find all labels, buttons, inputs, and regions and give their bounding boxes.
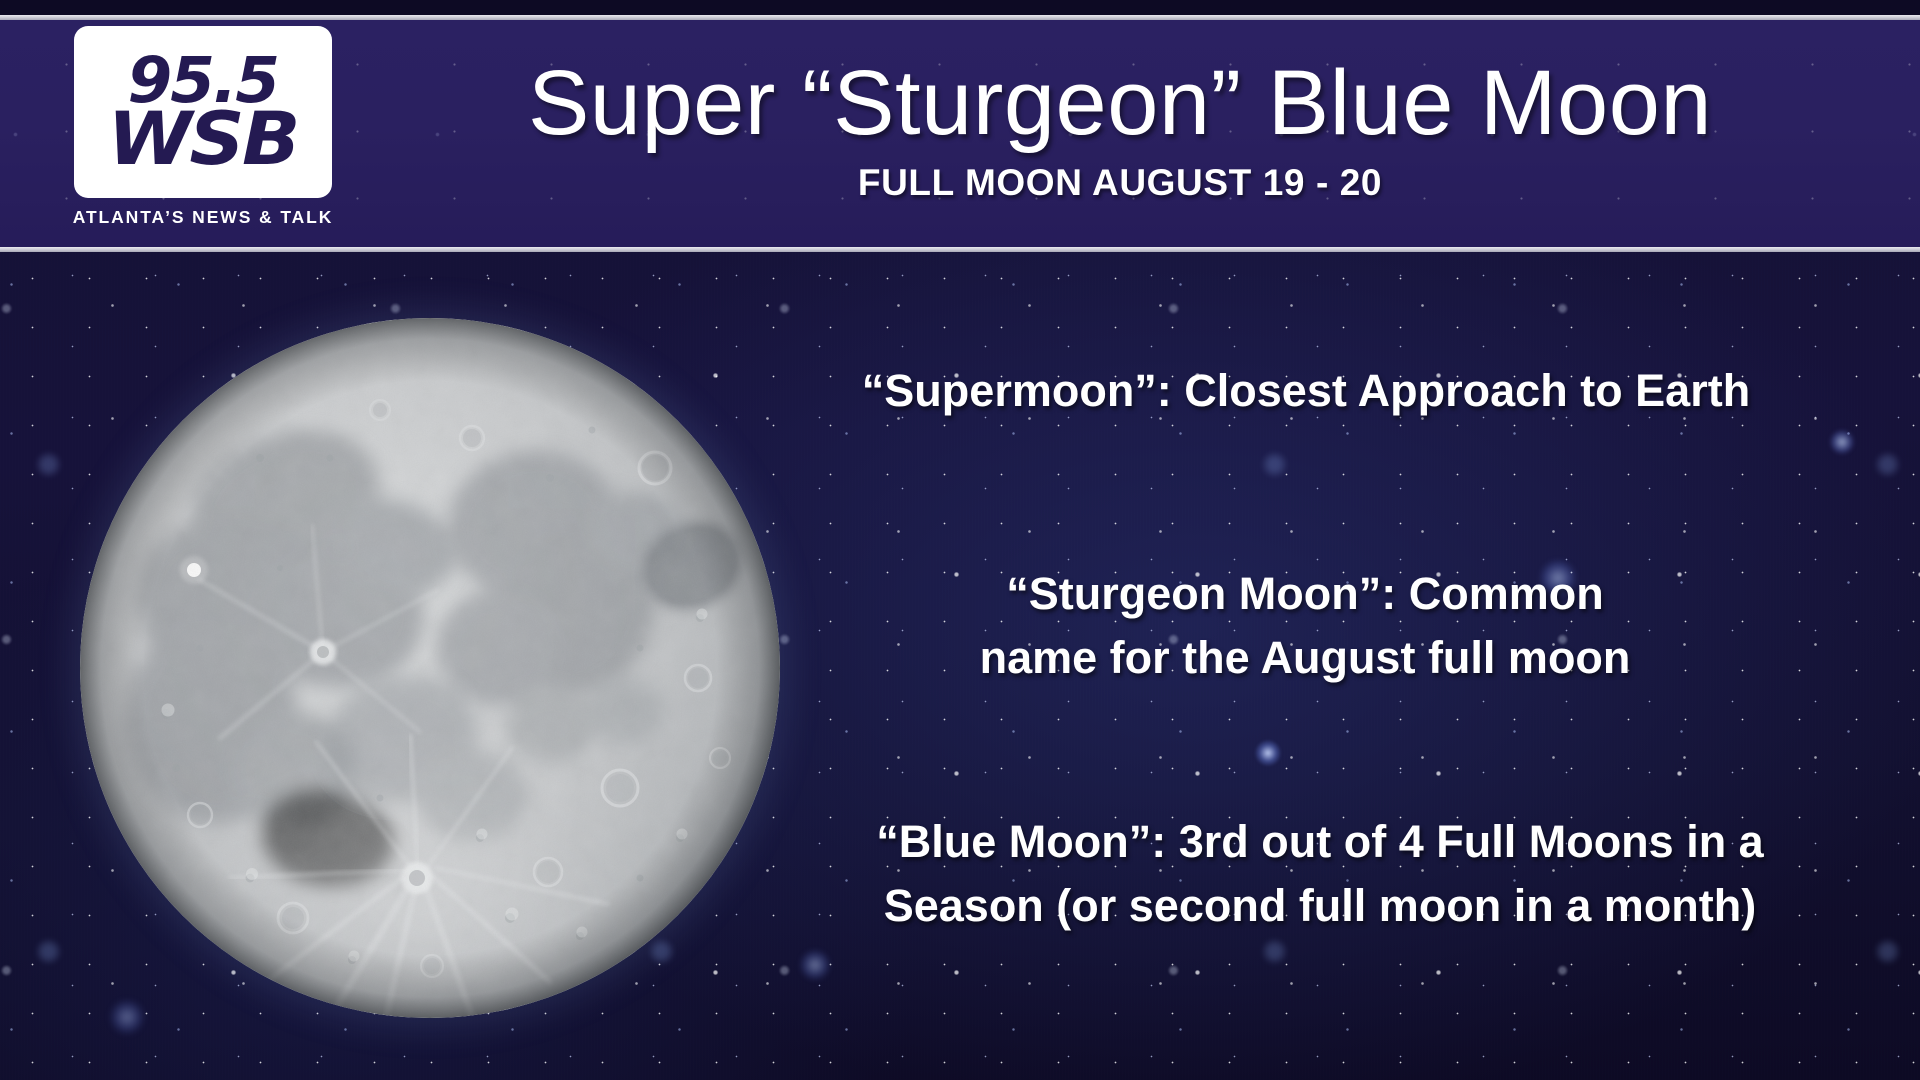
page-title: Super “Sturgeon” Blue Moon bbox=[528, 57, 1712, 151]
graphic-stage: 95.5 WSB ATLANTA’S NEWS & TALK Super “St… bbox=[0, 0, 1920, 1080]
page-subtitle: FULL MOON AUGUST 19 - 20 bbox=[858, 163, 1382, 204]
station-logo[interactable]: 95.5 WSB ATLANTA’S NEWS & TALK bbox=[74, 26, 332, 242]
header-rule-bottom bbox=[0, 247, 1920, 252]
header-text-block: Super “Sturgeon” Blue Moon FULL MOON AUG… bbox=[340, 22, 1900, 244]
moon-surface-illustration bbox=[80, 318, 780, 1018]
top-edge-strip bbox=[0, 0, 1920, 15]
fact-sturgeon-moon: “Sturgeon Moon”: Common name for the Aug… bbox=[800, 562, 1810, 690]
moon-disc bbox=[80, 318, 780, 1018]
fact-supermoon: “Supermoon”: Closest Approach to Earth bbox=[716, 364, 1896, 418]
logo-card: 95.5 WSB bbox=[74, 26, 332, 198]
fact-blue-moon: “Blue Moon”: 3rd out of 4 Full Moons in … bbox=[790, 810, 1850, 938]
logo-callsign: WSB bbox=[108, 109, 298, 171]
moon-photo bbox=[80, 318, 780, 1018]
logo-tagline: ATLANTA’S NEWS & TALK bbox=[73, 207, 334, 228]
header-rule-top bbox=[0, 15, 1920, 20]
